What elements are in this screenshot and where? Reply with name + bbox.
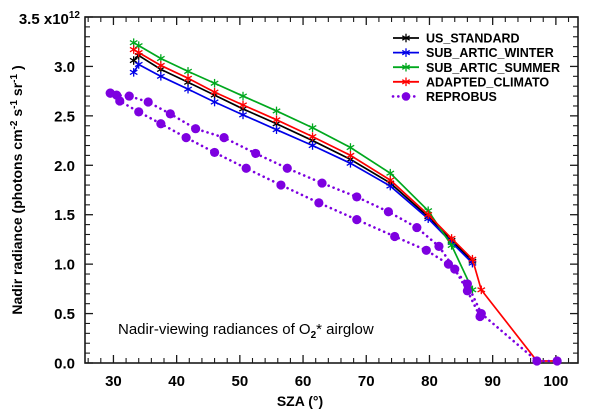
data-marker-circle	[191, 124, 200, 133]
y-tick-label: 0.5	[54, 306, 75, 323]
y-tick-label: 3.0	[54, 59, 75, 76]
data-marker-circle	[352, 192, 361, 201]
data-marker-circle	[553, 356, 562, 365]
data-marker-circle	[444, 260, 453, 269]
x-tick-label: 80	[421, 373, 438, 390]
legend-label: SUB_ARTIC_SUMMER	[426, 61, 560, 75]
series-path	[134, 64, 473, 263]
y-tick-label: 0.0	[54, 356, 75, 373]
x-tick-label: 30	[105, 373, 122, 390]
legend-item-adapted-climato[interactable]: ADAPTED_CLIMATO	[393, 75, 549, 89]
data-marker-circle	[352, 215, 361, 224]
x-tick-label: 90	[484, 373, 501, 390]
legend-label: SUB_ARTIC_WINTER	[426, 46, 554, 60]
x-axis-title: SZA (°)	[277, 393, 323, 409]
data-marker-circle	[251, 149, 260, 158]
x-tick-label: 40	[168, 373, 185, 390]
chart-legend: US_STANDARDSUB_ARTIC_WINTERSUB_ARTIC_SUM…	[393, 32, 560, 104]
y-axis-title: Nadir radiance (photons cm-2 s-1 sr-1 )	[9, 65, 25, 314]
y-tick-label: 2.5	[54, 108, 75, 125]
series-sub-artic-winter	[130, 60, 476, 267]
data-marker-circle	[115, 96, 124, 105]
plot-annotation: Nadir-viewing radiances of O2* airglow	[118, 321, 374, 341]
data-marker-circle	[144, 97, 153, 106]
x-tick-label: 70	[358, 373, 375, 390]
data-marker-circle	[134, 107, 143, 116]
y-axis-title-mid-1: s	[9, 109, 25, 121]
data-marker-circle	[434, 242, 443, 251]
data-marker-circle	[422, 246, 431, 255]
data-marker-circle	[210, 148, 219, 157]
y-tick-label: 1.0	[54, 257, 75, 274]
data-marker-circle	[477, 309, 486, 318]
y-axis-scale-exponent: 12	[69, 10, 81, 21]
y-axis-title-suffix: )	[9, 65, 25, 74]
legend-marker-circle	[402, 92, 411, 101]
data-marker-circle	[412, 223, 421, 232]
data-marker-circle	[532, 356, 541, 365]
series-sub-artic-summer	[130, 38, 476, 294]
data-marker-circle	[219, 133, 228, 142]
y-tick-label: 1.5	[54, 207, 75, 224]
x-tick-label: 100	[543, 373, 568, 390]
legend-item-sub-artic-winter[interactable]: SUB_ARTIC_WINTER	[393, 46, 554, 60]
data-marker-circle	[276, 180, 285, 189]
data-marker-circle	[317, 178, 326, 187]
data-marker-circle	[283, 164, 292, 173]
plot-annotation-prefix: Nadir-viewing radiances of O	[118, 321, 311, 338]
legend-item-us-standard[interactable]: US_STANDARD	[393, 32, 520, 46]
y-axis-title-mid-2: sr	[9, 82, 25, 100]
y-tick-label: 2.0	[54, 158, 75, 175]
data-marker-circle	[242, 164, 251, 173]
y-axis-scale-label: 3.5 x1012	[19, 10, 81, 28]
y-axis-scale-mantissa: 3.5 x10	[19, 11, 69, 28]
y-axis-tick-labels: 0.00.51.01.52.02.53.0	[54, 59, 75, 373]
plot-annotation-suffix: * airglow	[316, 321, 374, 338]
series-path	[134, 56, 473, 262]
x-axis-tick-labels: 30405060708090100	[105, 373, 568, 390]
data-marker-circle	[384, 207, 393, 216]
data-marker-circle	[463, 279, 472, 288]
data-marker-circle	[106, 89, 115, 98]
legend-item-sub-artic-summer[interactable]: SUB_ARTIC_SUMMER	[393, 61, 560, 75]
figure-canvas: 30405060708090100 0.00.51.01.52.02.53.0 …	[0, 0, 600, 415]
x-tick-label: 60	[295, 373, 312, 390]
legend-label: ADAPTED_CLIMATO	[426, 75, 549, 89]
legend-label: REPROBUS	[426, 90, 497, 104]
data-marker-circle	[125, 91, 134, 100]
chart-svg: 30405060708090100 0.00.51.01.52.02.53.0 …	[0, 0, 600, 415]
y-axis-title-prefix: Nadir radiance (photons cm	[9, 129, 25, 314]
data-marker-circle	[166, 109, 175, 118]
data-marker-circle	[182, 133, 191, 142]
legend-label: US_STANDARD	[426, 32, 520, 46]
data-marker-circle	[314, 198, 323, 207]
data-marker-circle	[390, 232, 399, 241]
data-marker-circle	[156, 119, 165, 128]
legend-item-reprobus[interactable]: REPROBUS	[393, 90, 497, 104]
x-tick-label: 50	[232, 373, 249, 390]
